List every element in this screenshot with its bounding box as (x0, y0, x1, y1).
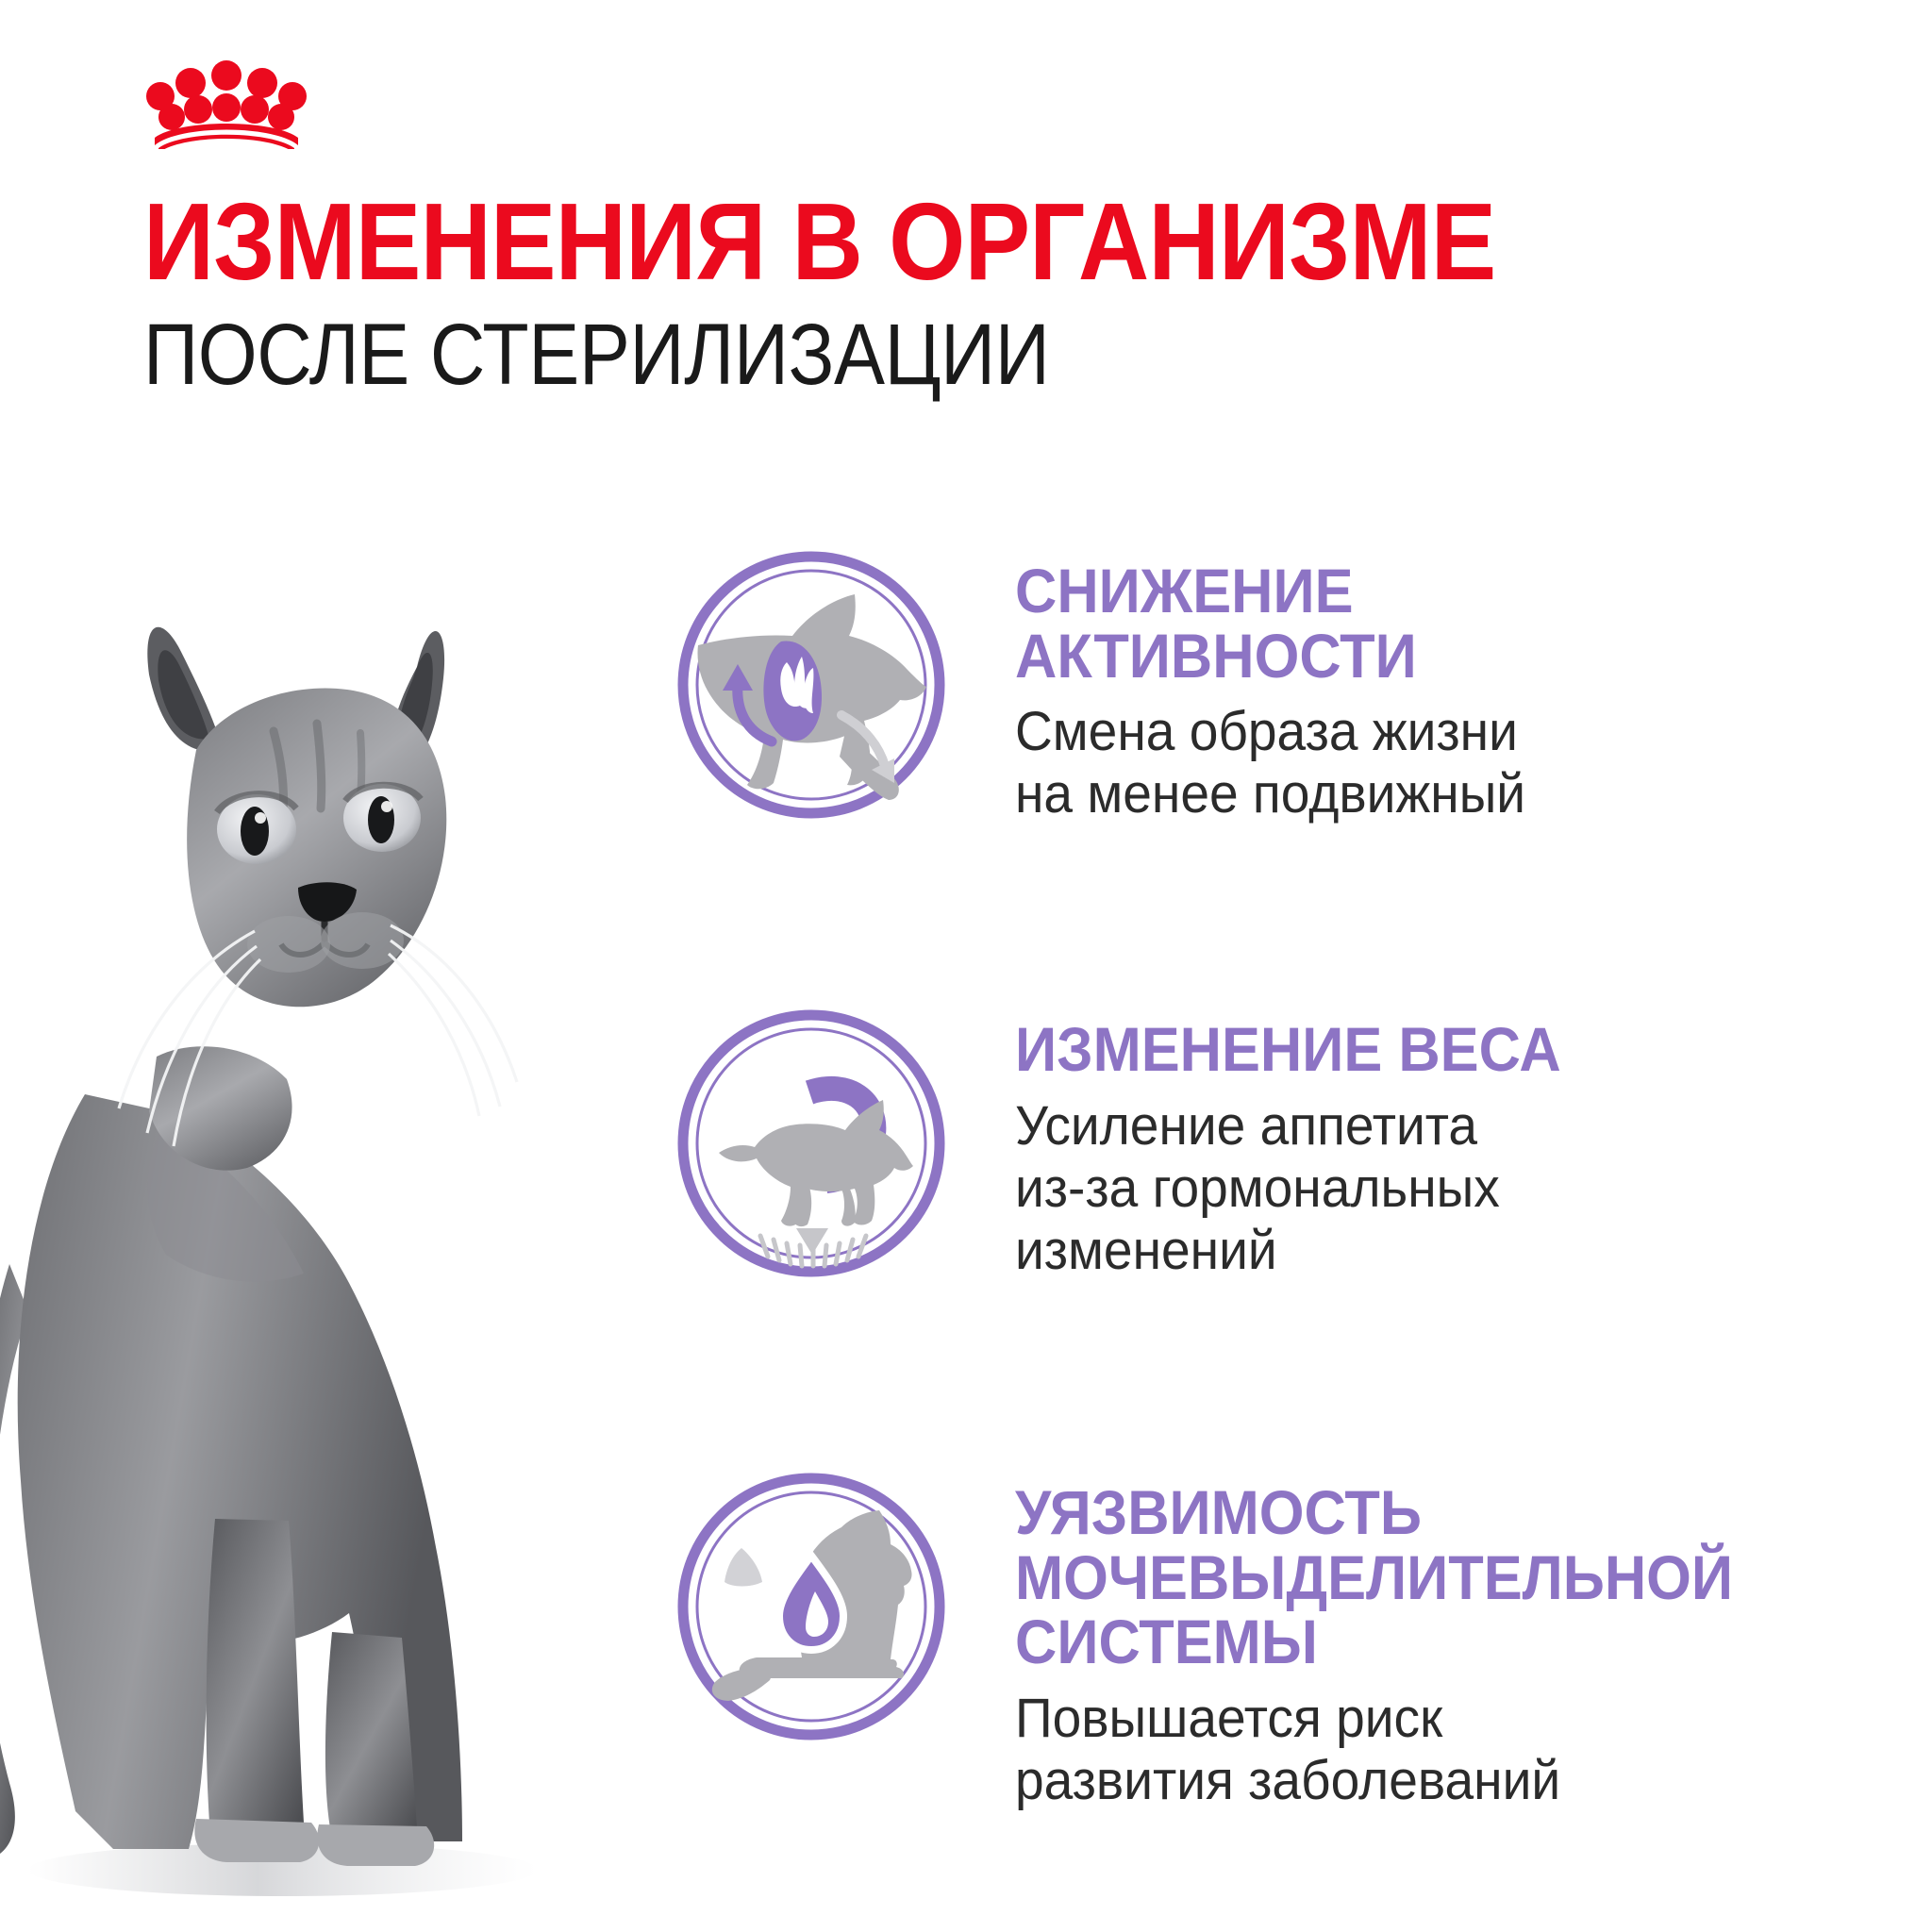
page-subtitle: ПОСЛЕ СТЕРИЛИЗАЦИИ (143, 311, 1555, 398)
feature-text-urinary: УЯЗВИМОСТЬ МОЧЕВЫДЕЛИТЕЛЬНОЙ СИСТЕМЫ Пов… (953, 1459, 1915, 1812)
grey-cat-photo (0, 528, 632, 1932)
cat-weight-scale-icon (670, 1002, 953, 1285)
feature-list: СНИЖЕНИЕ АКТИВНОСТИ Смена образа жизни н… (670, 538, 1915, 1812)
cat-urinary-droplet-icon (670, 1465, 953, 1748)
royal-canin-crown-logo (142, 55, 311, 149)
page-title: ИЗМЕНЕНИЯ В ОРГАНИЗМЕ (143, 189, 1587, 296)
feature-text-weight: ИЗМЕНЕНИЕ ВЕСА Усиление аппетита из-за г… (953, 996, 1915, 1282)
feature-body: Смена образа жизни на менее подвижный (1015, 701, 1870, 825)
feature-item-activity: СНИЖЕНИЕ АКТИВНОСТИ Смена образа жизни н… (670, 538, 1915, 826)
feature-body: Повышается риск развития заболеваний (1015, 1688, 1870, 1812)
feature-item-urinary: УЯЗВИМОСТЬ МОЧЕВЫДЕЛИТЕЛЬНОЙ СИСТЕМЫ Пов… (670, 1459, 1915, 1812)
cat-muscle-activity-icon (670, 543, 953, 826)
header-block: ИЗМЕНЕНИЯ В ОРГАНИЗМЕ ПОСЛЕ СТЕРИЛИЗАЦИИ (143, 189, 1747, 398)
feature-item-weight: ИЗМЕНЕНИЕ ВЕСА Усиление аппетита из-за г… (670, 996, 1915, 1285)
poster-root: ИЗМЕНЕНИЯ В ОРГАНИЗМЕ ПОСЛЕ СТЕРИЛИЗАЦИИ (0, 0, 1932, 1932)
feature-text-activity: СНИЖЕНИЕ АКТИВНОСТИ Смена образа жизни н… (953, 538, 1915, 825)
feature-title: СНИЖЕНИЕ АКТИВНОСТИ (1015, 558, 1852, 688)
feature-title: УЯЗВИМОСТЬ МОЧЕВЫДЕЛИТЕЛЬНОЙ СИСТЕМЫ (1015, 1480, 1852, 1674)
feature-body: Усиление аппетита из-за гормональных изм… (1015, 1095, 1870, 1282)
feature-title: ИЗМЕНЕНИЕ ВЕСА (1015, 1017, 1852, 1082)
